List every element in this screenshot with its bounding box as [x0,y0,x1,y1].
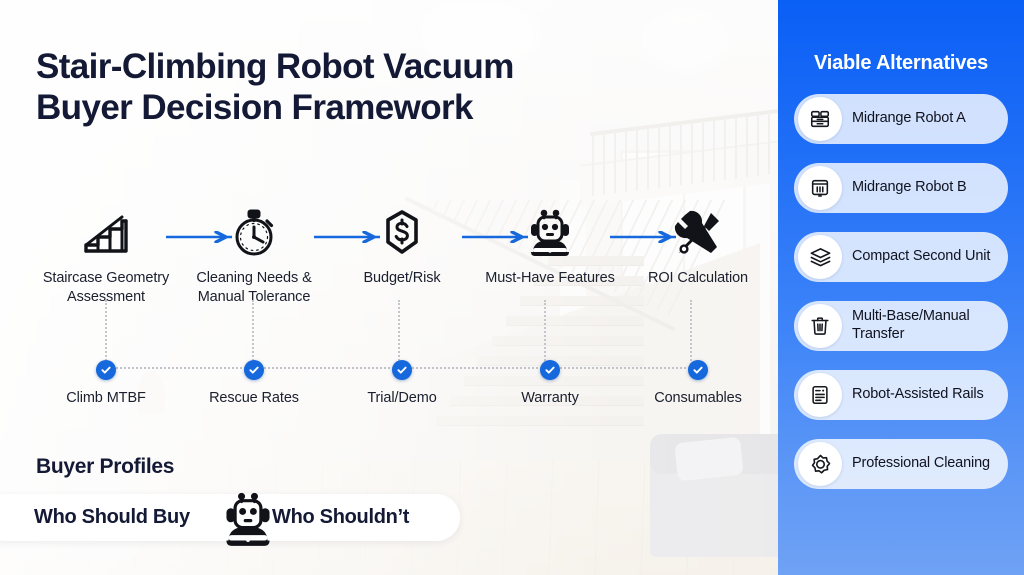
criteria-label: Rescue Rates [180,390,328,406]
flow-step-staircase-geometry[interactable]: Staircase Geometry Assessment [32,205,180,308]
criteria-item-rescue-rates[interactable]: Rescue Rates [180,360,328,406]
infographic-canvas: Stair-Climbing Robot Vacuum Buyer Decisi… [0,0,1024,575]
connector-vertical-3 [398,300,400,368]
criteria-item-consumables[interactable]: Consumables [624,360,772,406]
flow-step-label: Must-Have Features [476,269,624,288]
criteria-label: Trial/Demo [328,390,476,406]
criteria-checklist: Climb MTBF Rescue Rates Trial/Demo Warra… [20,360,760,420]
who-shouldnt-label[interactable]: Who Shouldn’t [272,506,409,529]
dollar-shield-icon [328,205,476,261]
criteria-label: Consumables [624,390,772,406]
stairs-icon [32,205,180,261]
robot-vacuum-icon [476,205,624,261]
alternative-label: Professional Cleaning [852,455,990,473]
check-circle-icon [688,360,708,380]
check-circle-icon [244,360,264,380]
flow-step-label: ROI Calculation [624,269,772,288]
alternative-label: Multi-Base/Manual Transfer [852,308,998,343]
drawer-box-icon [798,97,842,141]
criteria-item-trial-demo[interactable]: Trial/Demo [328,360,476,406]
flow-step-cleaning-needs[interactable]: Cleaning Needs & Manual Tolerance [180,205,328,308]
alternative-label: Compact Second Unit [852,248,990,266]
layers-stack-icon [798,235,842,279]
connector-vertical-4 [544,300,546,368]
page-title: Stair-Climbing Robot Vacuum Buyer Decisi… [36,47,656,129]
alternative-item-midrange-robot-b[interactable]: Midrange Robot B [794,163,1008,213]
connector-vertical-1 [105,300,107,368]
alternative-item-midrange-robot-a[interactable]: Midrange Robot A [794,94,1008,144]
who-should-buy-label[interactable]: Who Should Buy [34,506,190,529]
gear-icon [798,442,842,486]
page-title-line-1: Stair-Climbing Robot Vacuum [36,47,514,86]
panel-title: Viable Alternatives [778,52,1024,75]
trash-bin-icon [798,304,842,348]
stopwatch-icon [180,205,328,261]
check-circle-icon [540,360,560,380]
alternative-label: Midrange Robot B [852,179,966,197]
criteria-item-climb-mtbf[interactable]: Climb MTBF [32,360,180,406]
flow-step-budget-risk[interactable]: Budget/Risk [328,205,476,288]
alternative-item-multi-base-manual-transfer[interactable]: Multi-Base/Manual Transfer [794,301,1008,351]
criteria-label: Climb MTBF [32,390,180,406]
criteria-label: Warranty [476,390,624,406]
connector-vertical-5 [690,300,692,368]
robot-vacuum-icon [218,484,278,554]
viable-alternatives-panel: Viable Alternatives Midrange Robot A [778,0,1024,575]
alternative-item-professional-cleaning[interactable]: Professional Cleaning [794,439,1008,489]
alternative-label: Midrange Robot A [852,110,966,128]
alternative-item-compact-second-unit[interactable]: Compact Second Unit [794,232,1008,282]
alternative-item-robot-assisted-rails[interactable]: Robot-Assisted Rails [794,370,1008,420]
flow-step-must-have-features[interactable]: Must-Have Features [476,205,624,288]
check-circle-icon [392,360,412,380]
connector-vertical-2 [252,300,254,368]
alternative-label: Robot-Assisted Rails [852,386,984,404]
page-title-line-2: Buyer Decision Framework [36,88,656,129]
document-list-icon [798,373,842,417]
criteria-item-warranty[interactable]: Warranty [476,360,624,406]
flow-step-label: Budget/Risk [328,269,476,288]
flow-step-roi-calculation[interactable]: ROI Calculation [624,205,772,288]
wrench-screwdriver-icon [624,205,772,261]
alternatives-list: Midrange Robot A Midrange Robot B [794,94,1008,508]
buyer-profiles-heading: Buyer Profiles [36,455,174,479]
check-circle-icon [96,360,116,380]
bin-container-icon [798,166,842,210]
